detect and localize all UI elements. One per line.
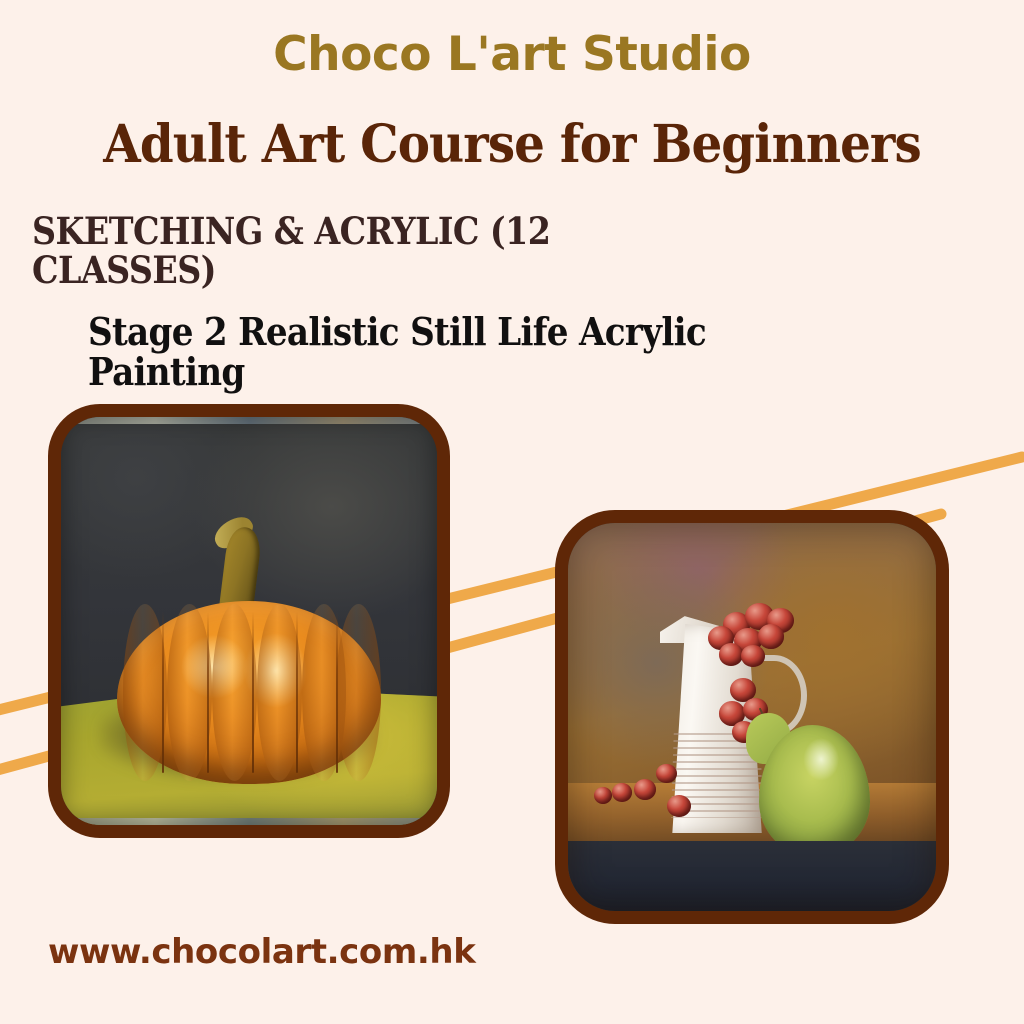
stage-description: Stage 2 Realistic Still Life Acrylic Pai… [88,312,862,392]
artwork-pumpkin-image [61,417,437,825]
artwork-stilllife-image [568,523,936,911]
artwork-pumpkin-frame [48,404,450,838]
artwork-stilllife-frame [555,510,949,924]
page-title: Choco L'art Studio [0,30,1024,79]
website-url[interactable]: www.chocolart.com.hk [48,932,475,972]
course-title: Adult Art Course for Beginners [36,118,988,173]
course-subtitle: SKETCHING & ACRYLIC (12 CLASSES) [32,212,662,290]
